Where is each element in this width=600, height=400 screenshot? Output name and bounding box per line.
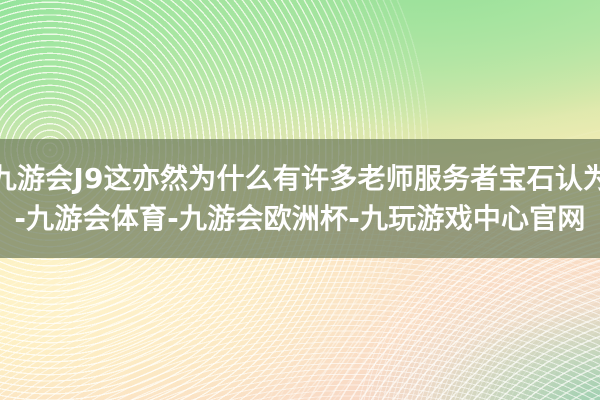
caption-line-2: -九游会体育-九游会欧洲杯-九玩游戏中心官网 [14, 199, 585, 239]
caption-line-1: 九游会J9这亦然为什么有许多老师服务者宝石认为 [0, 159, 600, 199]
promo-banner: 九游会J9这亦然为什么有许多老师服务者宝石认为 -九游会体育-九游会欧洲杯-九玩… [0, 0, 600, 400]
caption-overlay-band: 九游会J9这亦然为什么有许多老师服务者宝石认为 -九游会体育-九游会欧洲杯-九玩… [0, 139, 600, 258]
